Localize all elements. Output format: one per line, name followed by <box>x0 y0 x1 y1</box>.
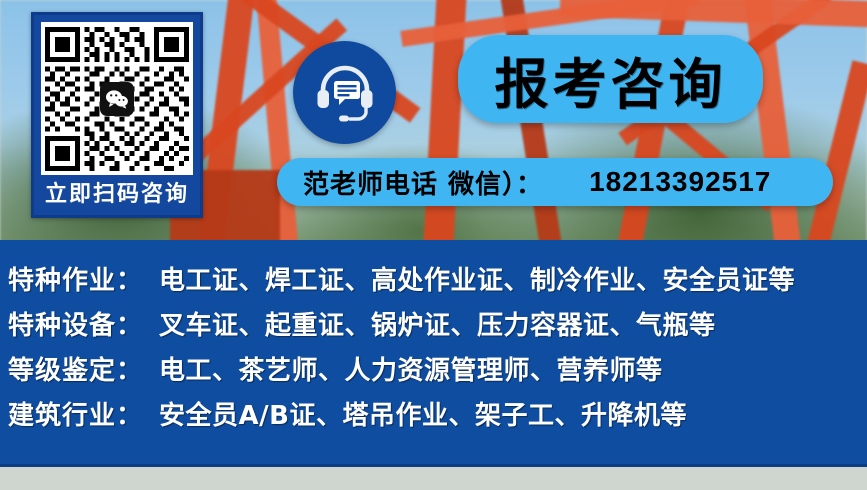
category-label: 建筑行业： <box>8 395 143 432</box>
headset-support-badge[interactable] <box>293 41 396 144</box>
contact-phone-pill[interactable]: 范老师电话 微信）： 18213392517 <box>277 158 833 206</box>
panel-bottom-divider <box>0 464 867 467</box>
wechat-logo-icon <box>100 82 134 116</box>
category-label: 特种设备： <box>8 305 143 342</box>
category-row: 等级鉴定： 电工、茶艺师、人力资源管理师、营养师等 <box>8 350 867 395</box>
category-items: 叉车证、起重证、锅炉证、压力容器证、气瓶等 <box>159 305 716 342</box>
headset-support-icon <box>314 63 376 123</box>
category-items: 安全员A/B证、塔吊作业、架子工、升降机等 <box>159 395 687 432</box>
category-label: 等级鉴定： <box>8 350 143 387</box>
category-label: 特种作业： <box>8 260 143 297</box>
contact-label: 范老师电话 微信）： <box>303 164 543 201</box>
qr-card-caption: 立即扫码咨询 <box>45 175 189 215</box>
category-row: 特种作业： 电工证、焊工证、高处作业证、制冷作业、安全员证等 <box>8 260 867 305</box>
consultation-title-text: 报考咨询 <box>495 40 727 119</box>
category-items: 电工、茶艺师、人力资源管理师、营养师等 <box>159 350 663 387</box>
consultation-title-pill[interactable]: 报考咨询 <box>458 35 763 123</box>
qr-code-card[interactable]: 立即扫码咨询 <box>31 12 203 218</box>
contact-phone-number[interactable]: 18213392517 <box>589 166 771 198</box>
qr-code-surface[interactable] <box>41 22 193 175</box>
category-row: 建筑行业： 安全员A/B证、塔吊作业、架子工、升降机等 <box>8 395 867 440</box>
promo-poster: 立即扫码咨询 报考咨询 范老师电话 微信）： 18213392517 <box>0 0 867 490</box>
certificate-categories-panel: 特种作业： 电工证、焊工证、高处作业证、制冷作业、安全员证等 特种设备： 叉车证… <box>0 240 867 467</box>
category-row: 特种设备： 叉车证、起重证、锅炉证、压力容器证、气瓶等 <box>8 305 867 350</box>
category-items: 电工证、焊工证、高处作业证、制冷作业、安全员证等 <box>159 260 795 297</box>
